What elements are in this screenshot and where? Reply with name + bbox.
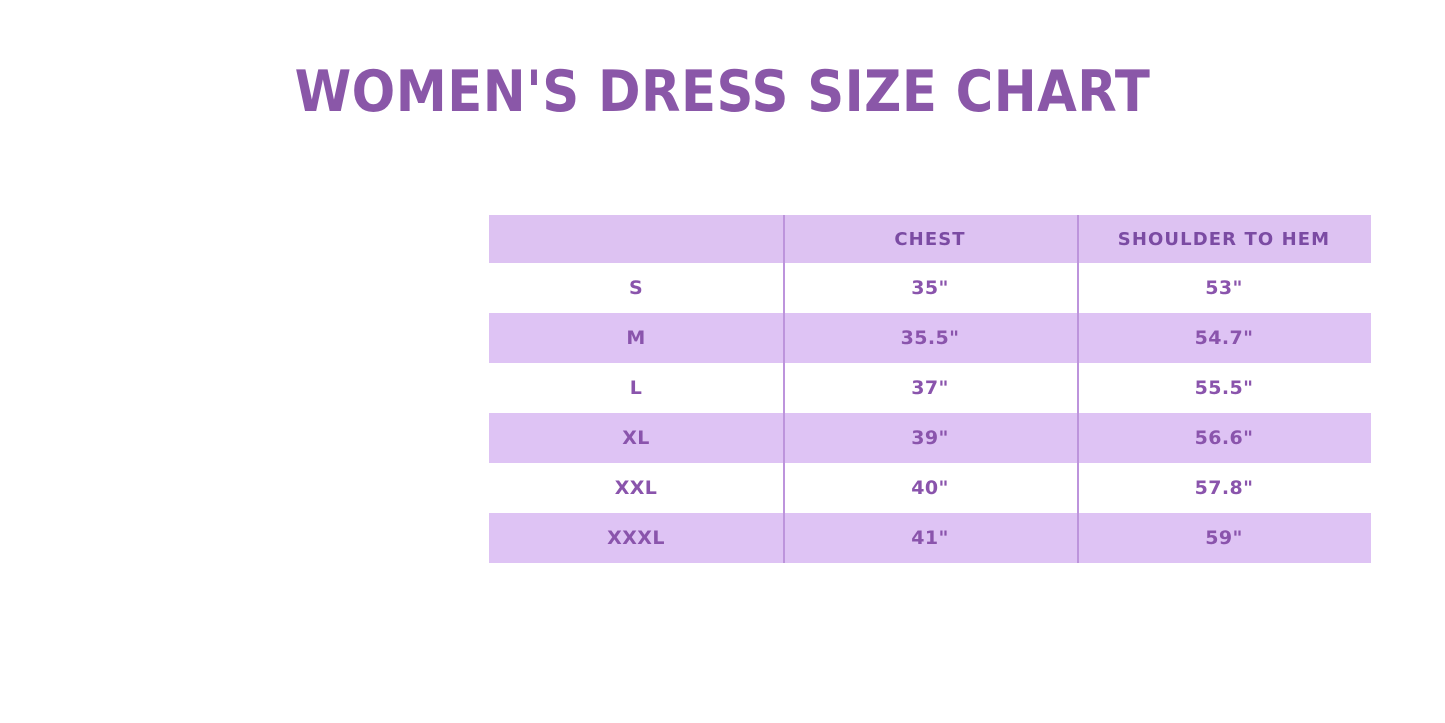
column-header-size xyxy=(489,215,783,263)
cell-size: M xyxy=(489,313,783,363)
cell-chest: 41" xyxy=(783,513,1077,563)
table-row: S 35" 53" xyxy=(489,263,1371,313)
cell-chest: 37" xyxy=(783,363,1077,413)
cell-chest: 39" xyxy=(783,413,1077,463)
table-header-row: CHEST SHOULDER TO HEM xyxy=(489,215,1371,263)
size-chart-table-container: CHEST SHOULDER TO HEM S 35" 53" M 35.5" … xyxy=(489,215,1371,566)
cell-chest: 35" xyxy=(783,263,1077,313)
cell-shoulder-to-hem: 53" xyxy=(1077,263,1371,313)
column-header-chest: CHEST xyxy=(783,215,1077,263)
cell-shoulder-to-hem: 54.7" xyxy=(1077,313,1371,363)
page-canvas: WOMEN'S DRESS SIZE CHART CHEST SHOULDER … xyxy=(0,0,1445,723)
column-header-shoulder-to-hem: SHOULDER TO HEM xyxy=(1077,215,1371,263)
table-row: XXL 40" 57.8" xyxy=(489,463,1371,513)
cell-shoulder-to-hem: 55.5" xyxy=(1077,363,1371,413)
cell-size: XXL xyxy=(489,463,783,513)
cell-size: XXXL xyxy=(489,513,783,563)
table-header: CHEST SHOULDER TO HEM xyxy=(489,215,1371,263)
cell-shoulder-to-hem: 56.6" xyxy=(1077,413,1371,463)
page-title: WOMEN'S DRESS SIZE CHART xyxy=(72,56,1373,128)
cell-size: L xyxy=(489,363,783,413)
table-body: S 35" 53" M 35.5" 54.7" L 37" 55.5" XL 3… xyxy=(489,263,1371,563)
table-row: XL 39" 56.6" xyxy=(489,413,1371,463)
cell-chest: 35.5" xyxy=(783,313,1077,363)
size-chart-table: CHEST SHOULDER TO HEM S 35" 53" M 35.5" … xyxy=(489,215,1371,563)
cell-shoulder-to-hem: 57.8" xyxy=(1077,463,1371,513)
cell-chest: 40" xyxy=(783,463,1077,513)
cell-size: XL xyxy=(489,413,783,463)
table-row: M 35.5" 54.7" xyxy=(489,313,1371,363)
cell-shoulder-to-hem: 59" xyxy=(1077,513,1371,563)
cell-size: S xyxy=(489,263,783,313)
table-row: L 37" 55.5" xyxy=(489,363,1371,413)
table-row: XXXL 41" 59" xyxy=(489,513,1371,563)
